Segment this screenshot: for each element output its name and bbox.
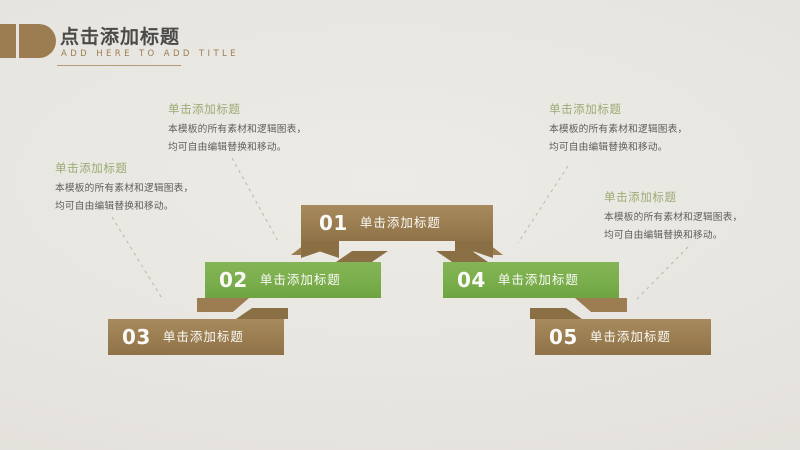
ribbon-02-body[interactable]: 02 单击添加标题 xyxy=(205,262,381,298)
slide-canvas: 点击添加标题 ADD HERE TO ADD TITLE 单击添加标题 本模板的… xyxy=(0,0,800,450)
text-block-c-line2: 均可自由编辑替换和移动。 xyxy=(549,139,687,156)
ribbon-04-number: 04 xyxy=(457,270,486,290)
text-block-a-line2: 均可自由编辑替换和移动。 xyxy=(168,139,306,156)
title-underline xyxy=(57,65,181,66)
page-subtitle: ADD HERE TO ADD TITLE xyxy=(61,50,239,59)
ribbon-01-body[interactable]: 01 单击添加标题 xyxy=(301,205,493,241)
ribbon-01-number: 01 xyxy=(319,213,348,233)
ribbon-04-fold-bottom xyxy=(575,298,627,312)
text-block-d: 单击添加标题 本模板的所有素材和逻辑图表， 均可自由编辑替换和移动。 xyxy=(604,189,742,244)
text-block-d-heading: 单击添加标题 xyxy=(604,189,742,206)
text-block-d-line1: 本模板的所有素材和逻辑图表， xyxy=(604,209,742,226)
text-block-b-line1: 本模板的所有素材和逻辑图表， xyxy=(55,180,193,197)
text-block-c: 单击添加标题 本模板的所有素材和逻辑图表， 均可自由编辑替换和移动。 xyxy=(549,101,687,156)
ribbon-04-body[interactable]: 04 单击添加标题 xyxy=(443,262,619,298)
connector-d-to-05 xyxy=(635,247,688,301)
ribbon-03-body[interactable]: 03 单击添加标题 xyxy=(108,319,284,355)
page-title: 点击添加标题 xyxy=(60,28,180,47)
ribbon-05-number: 05 xyxy=(549,327,578,347)
ribbon-01-tail-left xyxy=(301,241,339,258)
connector-b-to-03 xyxy=(112,217,163,300)
text-block-b-line2: 均可自由编辑替换和移动。 xyxy=(55,198,193,215)
ribbon-banner-05[interactable]: 05 单击添加标题 xyxy=(535,319,711,355)
ribbon-05-fold xyxy=(530,308,582,319)
text-block-a-line1: 本模板的所有素材和逻辑图表， xyxy=(168,121,306,138)
ribbon-03-fold xyxy=(236,308,288,319)
text-block-b-heading: 单击添加标题 xyxy=(55,160,193,177)
ribbon-03-number: 03 xyxy=(122,327,151,347)
ribbon-04-label: 单击添加标题 xyxy=(498,274,579,287)
text-block-d-line2: 均可自由编辑替换和移动。 xyxy=(604,227,742,244)
text-block-a: 单击添加标题 本模板的所有素材和逻辑图表， 均可自由编辑替换和移动。 xyxy=(168,101,306,156)
connector-c-to-04 xyxy=(518,166,568,243)
ribbon-02-number: 02 xyxy=(219,270,248,290)
logo-bar-shape xyxy=(0,24,16,58)
text-block-a-heading: 单击添加标题 xyxy=(168,101,306,118)
ribbon-banner-01[interactable]: 01 单击添加标题 xyxy=(301,205,493,241)
ribbon-banner-02[interactable]: 02 单击添加标题 xyxy=(205,262,381,298)
ribbon-02-label: 单击添加标题 xyxy=(260,274,341,287)
ribbon-02-fold-bottom xyxy=(197,298,249,312)
ribbon-01-label: 单击添加标题 xyxy=(360,217,441,230)
text-block-b: 单击添加标题 本模板的所有素材和逻辑图表， 均可自由编辑替换和移动。 xyxy=(55,160,193,215)
ribbon-05-label: 单击添加标题 xyxy=(590,331,671,344)
text-block-c-heading: 单击添加标题 xyxy=(549,101,687,118)
logo-d-shape xyxy=(19,24,56,58)
ribbon-banner-03[interactable]: 03 单击添加标题 xyxy=(108,319,284,355)
connector-a-to-01 xyxy=(232,158,279,243)
ribbon-banner-04[interactable]: 04 单击添加标题 xyxy=(443,262,619,298)
ribbon-05-body[interactable]: 05 单击添加标题 xyxy=(535,319,711,355)
ribbon-02-fold-top xyxy=(336,251,388,262)
brand-logo-mark xyxy=(0,24,56,58)
ribbon-03-label: 单击添加标题 xyxy=(163,331,244,344)
text-block-c-line1: 本模板的所有素材和逻辑图表， xyxy=(549,121,687,138)
